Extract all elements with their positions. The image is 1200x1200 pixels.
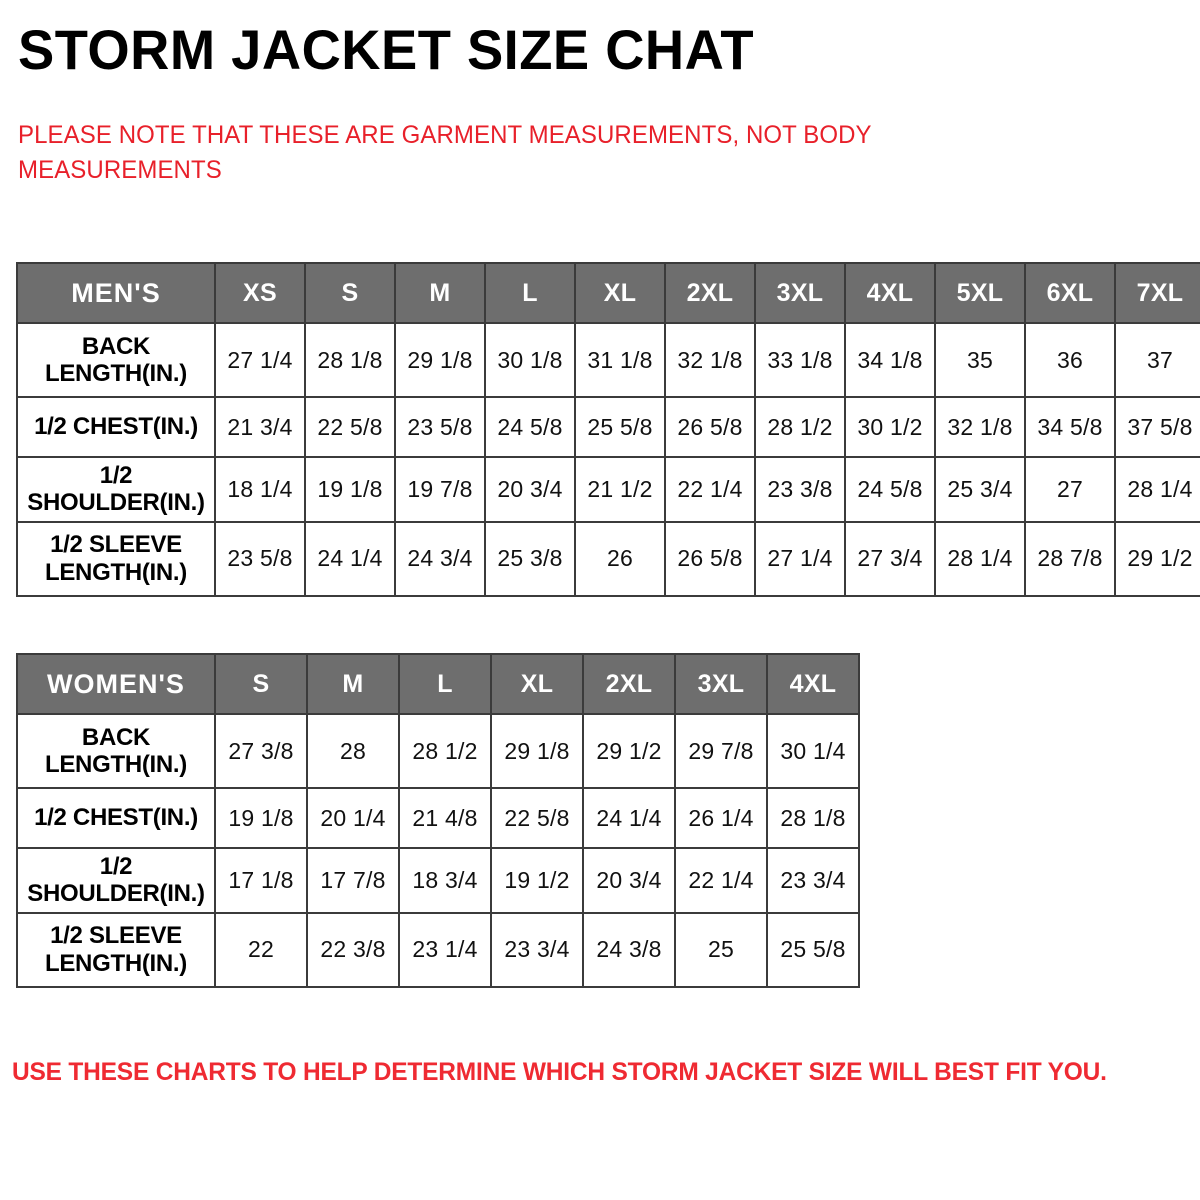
- cell: 21 3/4: [215, 397, 305, 457]
- cell: 30 1/8: [485, 323, 575, 397]
- cell-value: 22 3/8: [320, 936, 385, 963]
- mens-size-col-m: M: [395, 263, 485, 323]
- cell: 22 5/8: [305, 397, 395, 457]
- label-line: LENGTH(IN.): [45, 751, 187, 778]
- cell: 27: [1025, 457, 1115, 522]
- mens-row-label-shoulder: 1/2 SHOULDER(IN.): [17, 457, 215, 522]
- cell-value: 30 1/4: [780, 738, 845, 765]
- cell: 29 1/8: [491, 714, 583, 788]
- cell-value: 20 3/4: [596, 867, 661, 894]
- cell: 22 1/4: [675, 848, 767, 913]
- table-row: 1/2 SLEEVE LENGTH(IN.) 22 22 3/8 23 1/4 …: [17, 913, 859, 987]
- cell-value: 22: [248, 936, 274, 963]
- mens-size-col-l: L: [485, 263, 575, 323]
- cell-value: 26: [607, 545, 633, 572]
- cell-value: 21 3/4: [227, 414, 292, 441]
- cell: 24 5/8: [485, 397, 575, 457]
- womens-row-label-sleeve-length: 1/2 SLEEVE LENGTH(IN.): [17, 913, 215, 987]
- cell-value: 29 1/2: [596, 738, 661, 765]
- cell: 23 5/8: [215, 522, 305, 596]
- cell-value: 22 1/4: [688, 867, 753, 894]
- mens-table-header: MEN'S XS S M L XL 2XL 3XL 4XL 5XL 6XL 7X…: [17, 263, 1200, 323]
- cell-value: 29 1/8: [504, 738, 569, 765]
- cell: 32 1/8: [665, 323, 755, 397]
- cell-value: 27 3/4: [857, 545, 922, 572]
- cell-value: 17 1/8: [228, 867, 293, 894]
- cell-value: 24 5/8: [497, 414, 562, 441]
- mens-size-col-xl: XL: [575, 263, 665, 323]
- womens-table-body: BACK LENGTH(IN.) 27 3/8 28 28 1/2 29 1/8…: [17, 714, 859, 987]
- cell-value: 17 7/8: [320, 867, 385, 894]
- cell: 28 1/8: [767, 788, 859, 848]
- cell-value: 23 5/8: [227, 545, 292, 572]
- cell: 23 5/8: [395, 397, 485, 457]
- cell-value: 28 1/4: [947, 545, 1012, 572]
- cell: 27 1/4: [755, 522, 845, 596]
- cell: 27 3/4: [845, 522, 935, 596]
- cell-value: 21 4/8: [412, 805, 477, 832]
- cell-value: 28 7/8: [1037, 545, 1102, 572]
- cell: 19 1/8: [305, 457, 395, 522]
- mens-size-col-5xl: 5XL: [935, 263, 1025, 323]
- page-title: STORM JACKET SIZE CHAT: [18, 22, 754, 78]
- cell: 37 5/8: [1115, 397, 1200, 457]
- cell: 24 5/8: [845, 457, 935, 522]
- cell: 34 5/8: [1025, 397, 1115, 457]
- cell-value: 29 1/8: [407, 347, 472, 374]
- cell: 29 1/8: [395, 323, 485, 397]
- cell: 34 1/8: [845, 323, 935, 397]
- label-line: 1/2 SLEEVE: [50, 531, 182, 558]
- mens-size-col-7xl: 7XL: [1115, 263, 1200, 323]
- cell: 25 5/8: [575, 397, 665, 457]
- cell-value: 26 1/4: [688, 805, 753, 832]
- cell-value: 28 1/8: [317, 347, 382, 374]
- label-line: LENGTH(IN.): [45, 950, 187, 977]
- mens-size-table: MEN'S XS S M L XL 2XL 3XL 4XL 5XL 6XL 7X…: [16, 262, 1200, 597]
- cell: 30 1/4: [767, 714, 859, 788]
- table-row: 1/2 CHEST(IN.) 21 3/4 22 5/8 23 5/8 24 5…: [17, 397, 1200, 457]
- cell: 19 7/8: [395, 457, 485, 522]
- cell: 30 1/2: [845, 397, 935, 457]
- cell: 26: [575, 522, 665, 596]
- womens-size-col-xl: XL: [491, 654, 583, 714]
- cell: 24 3/4: [395, 522, 485, 596]
- cell-value: 32 1/8: [677, 347, 742, 374]
- cell-value: 25 5/8: [587, 414, 652, 441]
- cell: 21 1/2: [575, 457, 665, 522]
- womens-corner-label: WOMEN'S: [17, 654, 215, 714]
- cell-value: 22 5/8: [504, 805, 569, 832]
- cell: 25 5/8: [767, 913, 859, 987]
- womens-size-col-l: L: [399, 654, 491, 714]
- mens-size-col-4xl: 4XL: [845, 263, 935, 323]
- cell-value: 27 1/4: [767, 545, 832, 572]
- mens-size-col-3xl: 3XL: [755, 263, 845, 323]
- cell-value: 18 1/4: [227, 476, 292, 503]
- cell: 25 3/8: [485, 522, 575, 596]
- cell: 27 3/8: [215, 714, 307, 788]
- cell-value: 30 1/2: [857, 414, 922, 441]
- mens-size-col-xs: XS: [215, 263, 305, 323]
- label-line: 1/2 SLEEVE: [50, 922, 182, 949]
- cell-value: 24 5/8: [857, 476, 922, 503]
- mens-table-body: BACK LENGTH(IN.) 27 1/4 28 1/8 29 1/8 30…: [17, 323, 1200, 596]
- womens-size-col-3xl: 3XL: [675, 654, 767, 714]
- cell-value: 34 5/8: [1037, 414, 1102, 441]
- cell: 19 1/2: [491, 848, 583, 913]
- mens-row-label-sleeve-length: 1/2 SLEEVE LENGTH(IN.): [17, 522, 215, 596]
- cell: 23 3/8: [755, 457, 845, 522]
- cell: 35: [935, 323, 1025, 397]
- table-row: 1/2 SHOULDER(IN.) 18 1/4 19 1/8 19 7/8 2…: [17, 457, 1200, 522]
- womens-row-label-chest: 1/2 CHEST(IN.): [17, 788, 215, 848]
- size-chart-page: STORM JACKET SIZE CHAT PLEASE NOTE THAT …: [0, 0, 1200, 1200]
- cell-value: 23 5/8: [407, 414, 472, 441]
- cell-value: 28: [340, 738, 366, 765]
- fit-guidance-note: USE THESE CHARTS TO HELP DETERMINE WHICH…: [12, 1057, 1149, 1087]
- cell-value: 22 5/8: [317, 414, 382, 441]
- cell: 32 1/8: [935, 397, 1025, 457]
- mens-size-col-6xl: 6XL: [1025, 263, 1115, 323]
- cell: 21 4/8: [399, 788, 491, 848]
- cell-value: 25 3/4: [947, 476, 1012, 503]
- womens-size-col-2xl: 2XL: [583, 654, 675, 714]
- label-line: BACK: [82, 333, 150, 360]
- cell-value: 23 3/8: [767, 476, 832, 503]
- womens-row-label-back-length: BACK LENGTH(IN.): [17, 714, 215, 788]
- womens-header-row: WOMEN'S S M L XL 2XL 3XL 4XL: [17, 654, 859, 714]
- cell-value: 24 3/8: [596, 936, 661, 963]
- cell: 22: [215, 913, 307, 987]
- mens-size-col-2xl: 2XL: [665, 263, 755, 323]
- cell-value: 26 5/8: [677, 414, 742, 441]
- cell-value: 27: [1057, 476, 1083, 503]
- cell-value: 23 3/4: [504, 936, 569, 963]
- cell-value: 35: [967, 347, 993, 374]
- cell: 17 1/8: [215, 848, 307, 913]
- womens-row-label-shoulder: 1/2 SHOULDER(IN.): [17, 848, 215, 913]
- table-row: 1/2 SHOULDER(IN.) 17 1/8 17 7/8 18 3/4 1…: [17, 848, 859, 913]
- cell: 20 3/4: [583, 848, 675, 913]
- cell-value: 23 3/4: [780, 867, 845, 894]
- cell: 26 5/8: [665, 397, 755, 457]
- cell-value: 24 3/4: [407, 545, 472, 572]
- cell-value: 26 5/8: [677, 545, 742, 572]
- cell: 28 1/2: [399, 714, 491, 788]
- cell-value: 37: [1147, 347, 1173, 374]
- cell: 22 5/8: [491, 788, 583, 848]
- cell: 18 1/4: [215, 457, 305, 522]
- womens-size-col-4xl: 4XL: [767, 654, 859, 714]
- cell-value: 29 7/8: [688, 738, 753, 765]
- cell-value: 28 1/8: [780, 805, 845, 832]
- cell: 36: [1025, 323, 1115, 397]
- cell: 18 3/4: [399, 848, 491, 913]
- cell-value: 28 1/2: [767, 414, 832, 441]
- cell: 25 3/4: [935, 457, 1025, 522]
- cell: 28: [307, 714, 399, 788]
- cell-value: 37 5/8: [1127, 414, 1192, 441]
- cell: 22 1/4: [665, 457, 755, 522]
- cell: 19 1/8: [215, 788, 307, 848]
- garment-measurement-note: PLEASE NOTE THAT THESE ARE GARMENT MEASU…: [18, 118, 940, 187]
- cell-value: 32 1/8: [947, 414, 1012, 441]
- womens-size-table: WOMEN'S S M L XL 2XL 3XL 4XL BACK LENGTH…: [16, 653, 860, 988]
- cell: 28 1/2: [755, 397, 845, 457]
- cell: 26 1/4: [675, 788, 767, 848]
- mens-corner-label: MEN'S: [17, 263, 215, 323]
- cell-value: 28 1/2: [412, 738, 477, 765]
- cell-value: 36: [1057, 347, 1083, 374]
- label-line: LENGTH(IN.): [45, 559, 187, 586]
- table-row: BACK LENGTH(IN.) 27 1/4 28 1/8 29 1/8 30…: [17, 323, 1200, 397]
- cell-value: 24 1/4: [596, 805, 661, 832]
- cell: 24 1/4: [305, 522, 395, 596]
- table-row: BACK LENGTH(IN.) 27 3/8 28 28 1/2 29 1/8…: [17, 714, 859, 788]
- cell: 31 1/8: [575, 323, 665, 397]
- cell: 37: [1115, 323, 1200, 397]
- cell: 28 1/4: [1115, 457, 1200, 522]
- cell: 25: [675, 913, 767, 987]
- cell: 23 3/4: [767, 848, 859, 913]
- cell-value: 19 1/2: [504, 867, 569, 894]
- cell: 33 1/8: [755, 323, 845, 397]
- table-row: 1/2 SLEEVE LENGTH(IN.) 23 5/8 24 1/4 24 …: [17, 522, 1200, 596]
- cell-value: 24 1/4: [317, 545, 382, 572]
- cell-value: 20 1/4: [320, 805, 385, 832]
- cell: 28 7/8: [1025, 522, 1115, 596]
- cell-value: 21 1/2: [587, 476, 652, 503]
- cell: 22 3/8: [307, 913, 399, 987]
- cell-value: 25: [708, 936, 734, 963]
- cell: 28 1/4: [935, 522, 1025, 596]
- mens-row-label-chest: 1/2 CHEST(IN.): [17, 397, 215, 457]
- womens-table-header: WOMEN'S S M L XL 2XL 3XL 4XL: [17, 654, 859, 714]
- cell-value: 27 3/8: [228, 738, 293, 765]
- cell: 29 1/2: [583, 714, 675, 788]
- womens-size-col-m: M: [307, 654, 399, 714]
- mens-row-label-back-length: BACK LENGTH(IN.): [17, 323, 215, 397]
- cell-value: 19 7/8: [407, 476, 472, 503]
- cell: 24 1/4: [583, 788, 675, 848]
- mens-header-row: MEN'S XS S M L XL 2XL 3XL 4XL 5XL 6XL 7X…: [17, 263, 1200, 323]
- cell-value: 22 1/4: [677, 476, 742, 503]
- mens-size-col-s: S: [305, 263, 395, 323]
- cell: 23 3/4: [491, 913, 583, 987]
- cell-value: 23 1/4: [412, 936, 477, 963]
- cell-value: 18 3/4: [412, 867, 477, 894]
- cell-value: 31 1/8: [587, 347, 652, 374]
- cell-value: 29 1/2: [1127, 545, 1192, 572]
- cell-value: 27 1/4: [227, 347, 292, 374]
- womens-size-col-s: S: [215, 654, 307, 714]
- cell: 29 1/2: [1115, 522, 1200, 596]
- label-line: BACK: [82, 724, 150, 751]
- cell: 27 1/4: [215, 323, 305, 397]
- cell: 24 3/8: [583, 913, 675, 987]
- cell: 20 1/4: [307, 788, 399, 848]
- cell: 26 5/8: [665, 522, 755, 596]
- cell-value: 25 5/8: [780, 936, 845, 963]
- cell: 17 7/8: [307, 848, 399, 913]
- cell: 29 7/8: [675, 714, 767, 788]
- cell-value: 19 1/8: [317, 476, 382, 503]
- cell: 23 1/4: [399, 913, 491, 987]
- cell-value: 20 3/4: [497, 476, 562, 503]
- cell: 28 1/8: [305, 323, 395, 397]
- cell-value: 28 1/4: [1127, 476, 1192, 503]
- cell-value: 25 3/8: [497, 545, 562, 572]
- cell-value: 34 1/8: [857, 347, 922, 374]
- cell-value: 33 1/8: [767, 347, 832, 374]
- cell-value: 19 1/8: [228, 805, 293, 832]
- cell: 20 3/4: [485, 457, 575, 522]
- label-line: LENGTH(IN.): [45, 360, 187, 387]
- cell-value: 30 1/8: [497, 347, 562, 374]
- table-row: 1/2 CHEST(IN.) 19 1/8 20 1/4 21 4/8 22 5…: [17, 788, 859, 848]
